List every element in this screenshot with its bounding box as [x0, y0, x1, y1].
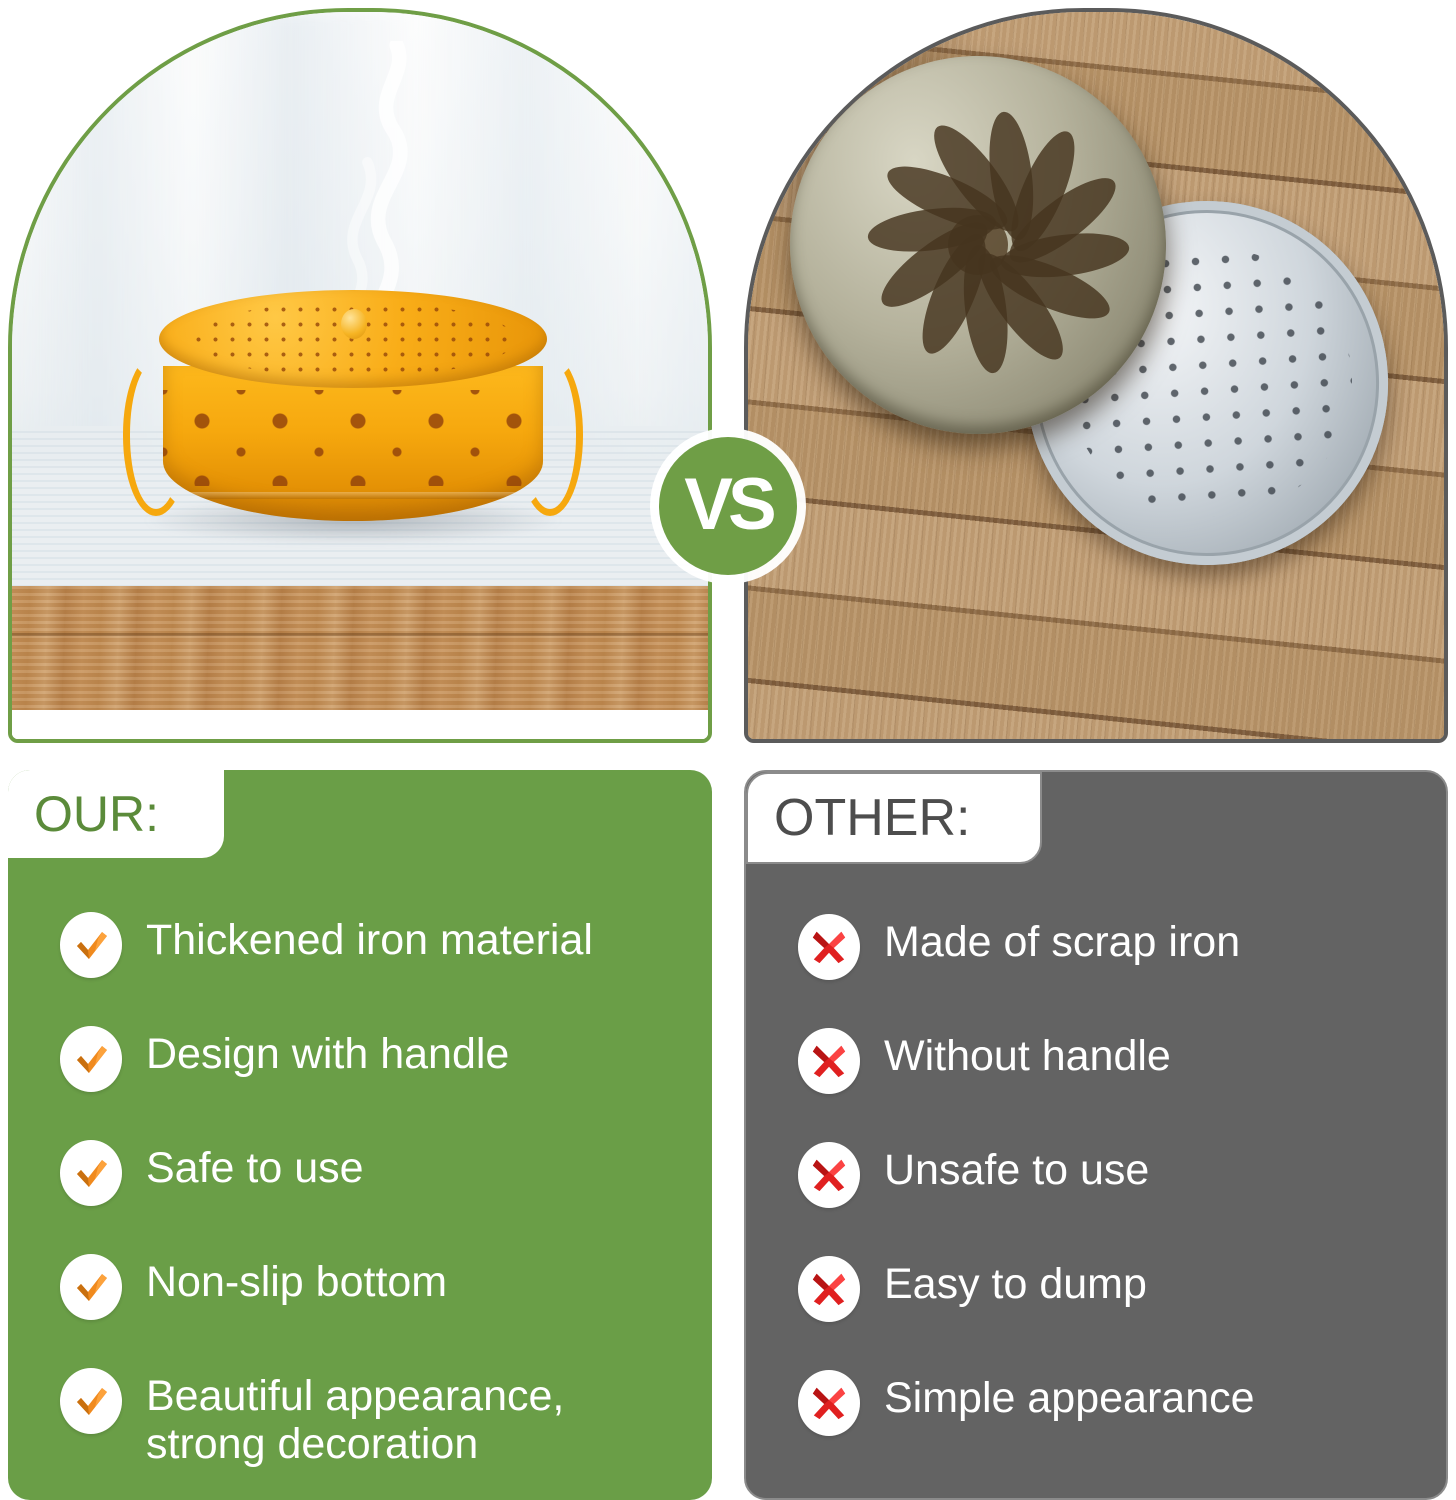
holder-body-ring: [163, 492, 542, 499]
check-icon: [60, 912, 122, 978]
lid-knob: [341, 309, 367, 339]
vs-badge: VS: [659, 437, 797, 575]
check-icon: [60, 1368, 122, 1434]
other-panel: OTHER: Made of scrap iron Without: [744, 770, 1448, 1500]
vs-label: VS: [684, 468, 771, 541]
list-item-label: Thickened iron material: [146, 908, 593, 964]
other-panel-title: OTHER:: [774, 792, 970, 844]
our-panel: OUR: Thickened iron material Desig: [8, 770, 712, 1500]
list-item: Easy to dump: [798, 1252, 1422, 1336]
cross-icon: [798, 1370, 860, 1436]
list-item-label: Safe to use: [146, 1136, 364, 1192]
list-item: Non-slip bottom: [60, 1250, 688, 1334]
list-item-label: Simple appearance: [884, 1366, 1255, 1422]
other-product-photo: [744, 8, 1448, 743]
cross-icon: [798, 1142, 860, 1208]
list-item: Unsafe to use: [798, 1138, 1422, 1222]
other-drawback-list: Made of scrap iron Without handle Un: [798, 910, 1422, 1450]
list-item: Beautiful appearance, strong decoration: [60, 1364, 688, 1468]
our-product-photo-inner: [12, 12, 708, 739]
our-benefit-list: Thickened iron material Design with hand…: [60, 908, 688, 1468]
other-panel-tag: OTHER:: [746, 772, 1042, 864]
cross-icon: [798, 1256, 860, 1322]
list-item-label: Without handle: [884, 1024, 1171, 1080]
flower-cutout-pattern: [163, 390, 542, 486]
list-item-label: Unsafe to use: [884, 1138, 1149, 1194]
other-photo-scene: [748, 12, 1444, 739]
list-item-label: Made of scrap iron: [884, 910, 1240, 966]
check-icon: [60, 1254, 122, 1320]
cross-icon: [798, 1028, 860, 1094]
list-item: Design with handle: [60, 1022, 688, 1106]
holder-lid: [159, 290, 547, 388]
our-panel-title: OUR:: [34, 789, 159, 839]
product-comparison-photos: VS: [0, 0, 1456, 748]
our-panel-tag: OUR:: [8, 770, 224, 858]
floor-area: [12, 710, 708, 739]
yellow-coil-holder: [151, 339, 555, 528]
list-item: Safe to use: [60, 1136, 688, 1220]
wooden-table-edge: [12, 586, 708, 710]
list-item: Simple appearance: [798, 1366, 1422, 1450]
check-icon: [60, 1140, 122, 1206]
list-item: Thickened iron material: [60, 908, 688, 992]
list-item: Without handle: [798, 1024, 1422, 1108]
other-product-photo-inner: [748, 12, 1444, 739]
list-item-label: Non-slip bottom: [146, 1250, 447, 1306]
holder-body: [163, 366, 542, 521]
list-item-label: Beautiful appearance, strong decoration: [146, 1364, 564, 1468]
list-item-label: Easy to dump: [884, 1252, 1147, 1308]
list-item-label: Design with handle: [146, 1022, 509, 1078]
our-product-photo: [8, 8, 712, 743]
list-item: Made of scrap iron: [798, 910, 1422, 994]
our-photo-scene: [12, 12, 708, 739]
check-icon: [60, 1026, 122, 1092]
cross-icon: [798, 914, 860, 980]
